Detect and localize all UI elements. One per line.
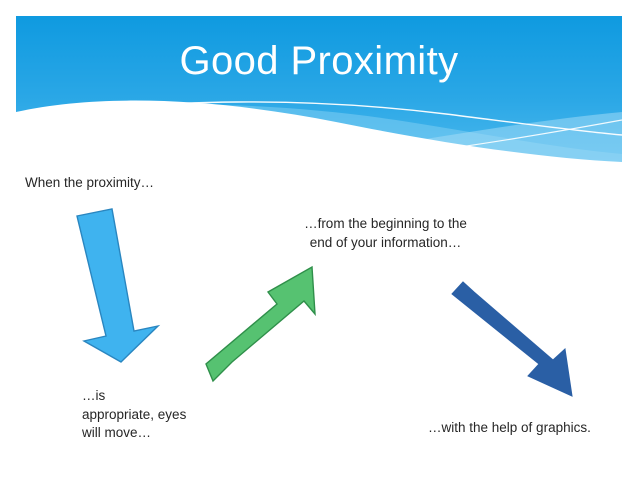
page-title: Good Proximity bbox=[16, 38, 622, 84]
text-is-appropriate-eyes-will-move: …is appropriate, eyes will move… bbox=[82, 387, 222, 443]
slide-canvas: Good Proximity When the proximity… …from… bbox=[0, 0, 638, 479]
text-line: …from the beginning to the bbox=[283, 215, 488, 234]
text-line: appropriate, eyes bbox=[82, 406, 222, 425]
text-line: end of your information… bbox=[283, 234, 488, 253]
text-with-the-help-of-graphics: …with the help of graphics. bbox=[428, 419, 591, 438]
text-line: will move… bbox=[82, 424, 222, 443]
up-right-arrow-green-icon[interactable] bbox=[206, 267, 315, 381]
down-right-arrow-dark-blue-icon[interactable] bbox=[452, 282, 572, 396]
down-arrow-light-blue-icon[interactable] bbox=[77, 209, 158, 362]
text-line: …is bbox=[82, 387, 222, 406]
text-when-the-proximity: When the proximity… bbox=[25, 174, 154, 193]
text-from-the-beginning: …from the beginning to the end of your i… bbox=[283, 215, 488, 252]
